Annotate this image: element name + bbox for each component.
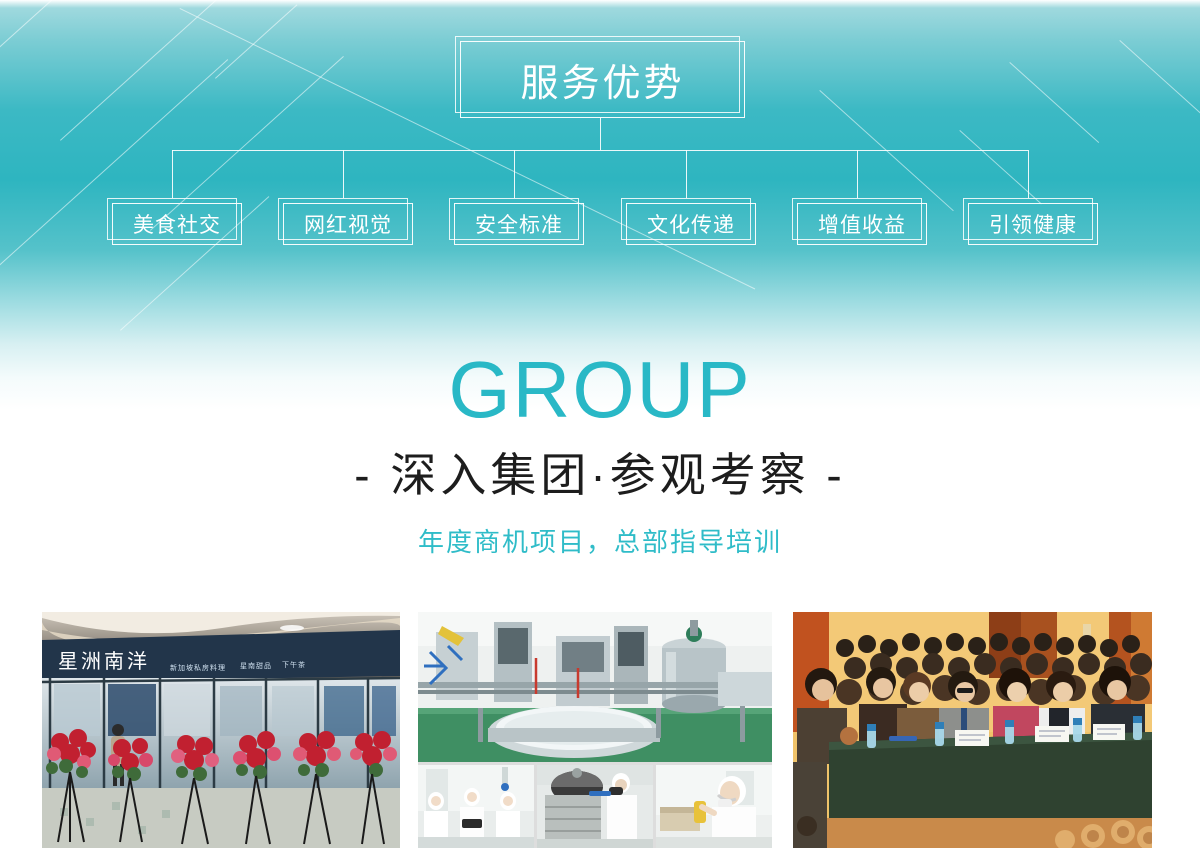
svg-text:星南甜品: 星南甜品 [240, 661, 272, 670]
connector-drop-3 [514, 150, 515, 198]
collage-production-line [418, 612, 772, 762]
org-node-wenhuachuandi[interactable]: 文化传递 [621, 198, 751, 240]
page-root: 服务优势 美食社交 网红视觉 安全标准 文化传递 [0, 0, 1200, 856]
photo-storefront[interactable]: 星洲南洋 新加坡私房料理 星南甜品 下午茶 [42, 612, 400, 848]
connector-drop-6 [1028, 150, 1029, 198]
photo-factory[interactable] [418, 612, 772, 848]
org-node-meishishejiao[interactable]: 美食社交 [107, 198, 237, 240]
org-node-zengzhishouyi[interactable]: 增值收益 [792, 198, 922, 240]
collage-lab-row [418, 762, 772, 848]
headline-title: - 深入集团·参观考察 - [0, 446, 1200, 506]
org-root-node[interactable]: 服务优势 [455, 36, 740, 113]
factory-collage [418, 612, 772, 848]
org-node-yinlingjiankang[interactable]: 引领健康 [963, 198, 1093, 240]
storefront-illustration: 星洲南洋 新加坡私房料理 星南甜品 下午茶 [42, 612, 400, 848]
conference-illustration [793, 612, 1152, 848]
org-node-label: 文化传递 [626, 203, 756, 245]
org-node-label: 美食社交 [112, 203, 242, 245]
photo-strip: 星洲南洋 新加坡私房料理 星南甜品 下午茶 [0, 612, 1200, 848]
autoclave-illustration [537, 765, 653, 848]
org-node-anquanbiaozhun[interactable]: 安全标准 [449, 198, 579, 240]
org-node-label: 增值收益 [797, 203, 927, 245]
production-line-illustration [418, 612, 772, 762]
lab-workers-illustration [418, 765, 534, 848]
org-chart: 服务优势 美食社交 网红视觉 安全标准 文化传递 [0, 0, 1200, 300]
org-node-label: 安全标准 [454, 203, 584, 245]
collage-lab-workers [418, 765, 534, 848]
connector-horizontal-bus [172, 150, 1028, 151]
org-node-wanghongshijue[interactable]: 网红视觉 [278, 198, 408, 240]
connector-drop-4 [686, 150, 687, 198]
org-root-label: 服务优势 [460, 41, 745, 118]
svg-text:下午茶: 下午茶 [282, 660, 306, 669]
collage-autoclave [537, 765, 653, 848]
svg-text:星洲南洋: 星洲南洋 [58, 649, 150, 673]
connector-drop-5 [857, 150, 858, 198]
org-node-label: 网红视觉 [283, 203, 413, 245]
headline-block: GROUP - 深入集团·参观考察 - 年度商机项目，总部指导培训 [0, 348, 1200, 559]
connector-root-stem [600, 118, 601, 150]
org-node-label: 引领健康 [968, 203, 1098, 245]
qc-inspector-illustration [656, 765, 772, 848]
headline-subtitle: 年度商机项目，总部指导培训 [0, 522, 1200, 559]
collage-qc-inspector [656, 765, 772, 848]
connector-drop-1 [172, 150, 173, 198]
connector-drop-2 [343, 150, 344, 198]
svg-text:新加坡私房料理: 新加坡私房料理 [170, 663, 226, 672]
photo-conference[interactable] [793, 612, 1152, 848]
headline-eyebrow: GROUP [0, 348, 1200, 432]
